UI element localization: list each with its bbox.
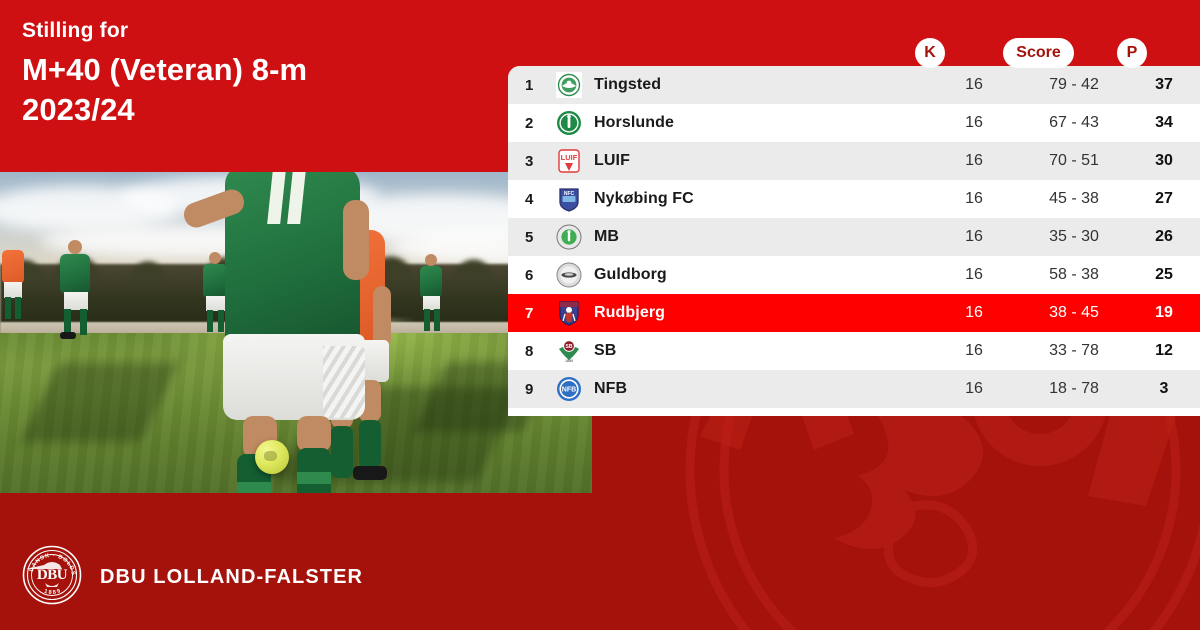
row-points: 30 <box>1128 152 1200 170</box>
svg-text:NFB: NFB <box>562 387 576 394</box>
row-goals: 38 - 45 <box>1020 304 1128 322</box>
mb-crest-icon <box>548 224 590 250</box>
svg-text:LUIF: LUIF <box>561 153 578 162</box>
horslunde-crest-icon <box>548 110 590 136</box>
luif-crest-icon: LUIF <box>548 148 590 174</box>
row-team-name: Rudbjerg <box>590 304 928 322</box>
svg-text:SB: SB <box>566 344 573 350</box>
row-matches: 16 <box>928 304 1020 322</box>
row-matches: 16 <box>928 228 1020 246</box>
guldborg-crest-icon <box>548 262 590 288</box>
page-title-line-2: 2023/24 <box>22 90 492 130</box>
svg-text:1889: 1889 <box>565 359 573 363</box>
row-team-name: SB <box>590 342 928 360</box>
row-goals: 45 - 38 <box>1020 190 1128 208</box>
row-position: 4 <box>508 191 548 208</box>
row-points: 27 <box>1128 190 1200 208</box>
page-title-line-1: M+40 (Veteran) 8-m <box>22 50 492 90</box>
page-title: M+40 (Veteran) 8-m 2023/24 <box>22 50 492 129</box>
svg-text:DBU: DBU <box>37 567 68 583</box>
photo-football <box>255 440 289 474</box>
table-row[interactable]: 5MB1635 - 3026 <box>508 218 1200 256</box>
table-row[interactable]: 4NFCNykøbing FC1645 - 3827 <box>508 180 1200 218</box>
rudbjerg-crest-icon <box>548 300 590 326</box>
row-matches: 16 <box>928 76 1020 94</box>
footer-org-name: DBU LOLLAND-FALSTER <box>100 566 363 589</box>
footer: DANSK · BOLDSPIL · UNION 1889 DBU DBU LO… <box>22 545 363 610</box>
dbu-logo-icon: DANSK · BOLDSPIL · UNION 1889 DBU <box>22 545 82 610</box>
row-position: 2 <box>508 115 548 132</box>
row-matches: 16 <box>928 190 1020 208</box>
table-body: 1Tingsted1679 - 42372Horslunde1667 - 433… <box>508 66 1200 408</box>
row-points: 26 <box>1128 228 1200 246</box>
row-goals: 18 - 78 <box>1020 380 1128 398</box>
row-team-name: NFB <box>590 380 928 398</box>
row-points: 37 <box>1128 76 1200 94</box>
row-team-name: Horslunde <box>590 114 928 132</box>
svg-text:1889: 1889 <box>43 588 63 596</box>
table-row[interactable]: 7Rudbjerg1638 - 4519 <box>508 294 1200 332</box>
nykobing-crest-icon: NFC <box>548 186 590 212</box>
row-team-name: Nykøbing FC <box>590 190 928 208</box>
row-position: 8 <box>508 343 548 360</box>
row-team-name: MB <box>590 228 928 246</box>
row-goals: 79 - 42 <box>1020 76 1128 94</box>
table-row[interactable]: 9NFBNFB1618 - 783 <box>508 370 1200 408</box>
row-goals: 70 - 51 <box>1020 152 1128 170</box>
tingsted-crest-icon <box>548 72 590 98</box>
header-kicker: Stilling for <box>22 18 492 43</box>
table-row[interactable]: 3LUIFLUIF1670 - 5130 <box>508 142 1200 180</box>
row-points: 34 <box>1128 114 1200 132</box>
poster-canvas: Stilling for M+40 (Veteran) 8-m 2023/24 <box>0 0 1200 630</box>
table-row[interactable]: 1Tingsted1679 - 4237 <box>508 66 1200 104</box>
svg-text:NFC: NFC <box>564 191 575 197</box>
table-row[interactable]: 2Horslunde1667 - 4334 <box>508 104 1200 142</box>
standings-table: 1Tingsted1679 - 42372Horslunde1667 - 433… <box>508 66 1200 416</box>
column-header-k[interactable]: K <box>915 38 945 68</box>
row-matches: 16 <box>928 380 1020 398</box>
row-goals: 35 - 30 <box>1020 228 1128 246</box>
row-matches: 16 <box>928 114 1020 132</box>
row-goals: 33 - 78 <box>1020 342 1128 360</box>
row-points: 12 <box>1128 342 1200 360</box>
row-points: 19 <box>1128 304 1200 322</box>
row-team-name: LUIF <box>590 152 928 170</box>
hero-photo <box>0 172 592 493</box>
row-matches: 16 <box>928 152 1020 170</box>
column-header-score[interactable]: Score <box>1003 38 1074 68</box>
row-position: 5 <box>508 229 548 246</box>
row-points: 3 <box>1128 380 1200 398</box>
row-matches: 16 <box>928 266 1020 284</box>
row-position: 6 <box>508 267 548 284</box>
table-row[interactable]: 6Guldborg1658 - 3825 <box>508 256 1200 294</box>
row-position: 9 <box>508 381 548 398</box>
row-position: 1 <box>508 77 548 94</box>
sb-crest-icon: SB1889 <box>548 338 590 364</box>
row-team-name: Tingsted <box>590 76 928 94</box>
column-header-p[interactable]: P <box>1117 38 1147 68</box>
row-position: 3 <box>508 153 548 170</box>
row-position: 7 <box>508 305 548 322</box>
row-goals: 58 - 38 <box>1020 266 1128 284</box>
header-text-block: Stilling for M+40 (Veteran) 8-m 2023/24 <box>22 18 492 130</box>
row-goals: 67 - 43 <box>1020 114 1128 132</box>
table-row[interactable]: 8SB1889SB1633 - 7812 <box>508 332 1200 370</box>
row-team-name: Guldborg <box>590 266 928 284</box>
row-matches: 16 <box>928 342 1020 360</box>
row-points: 25 <box>1128 266 1200 284</box>
nfb-crest-icon: NFB <box>548 376 590 402</box>
